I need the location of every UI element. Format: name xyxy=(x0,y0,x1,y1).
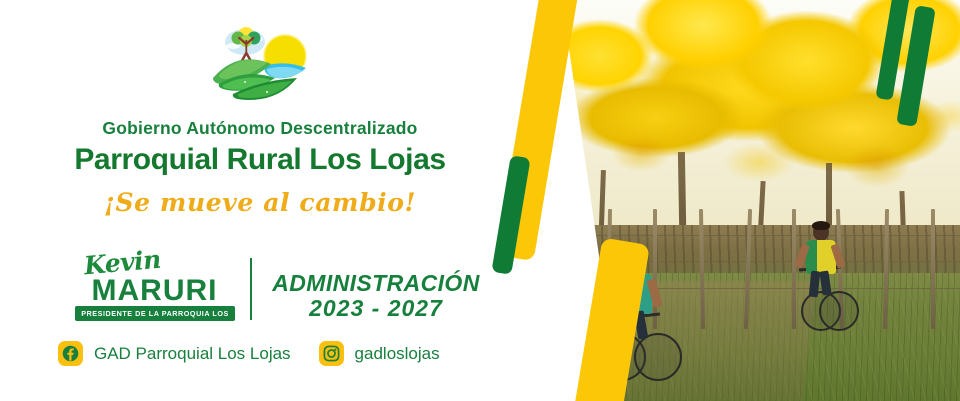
instagram-handle[interactable]: gadloslojas xyxy=(355,344,440,364)
page-title: Parroquial Rural Los Lojas xyxy=(0,143,520,177)
facebook-icon[interactable] xyxy=(58,341,83,366)
vertical-divider xyxy=(250,258,252,320)
left-content: Gobierno Autónomo Descentralizado Parroq… xyxy=(0,0,520,401)
tree-sun-leaf-logo-icon xyxy=(205,22,315,102)
cyclist-background xyxy=(775,221,885,361)
subtitle: Gobierno Autónomo Descentralizado xyxy=(0,118,520,139)
administration-block: ADMINISTRACIÓN 2023 - 2027 xyxy=(262,270,490,322)
facebook-handle[interactable]: GAD Parroquial Los Lojas xyxy=(94,344,291,364)
candidate-last-name: MARURI xyxy=(72,274,237,308)
candidate-block: Kevin MARURI PRESIDENTE DE LA PARROQUIA … xyxy=(72,250,237,328)
social-instagram[interactable]: gadloslojas xyxy=(319,341,440,366)
instagram-icon[interactable] xyxy=(319,341,344,366)
administration-years: 2023 - 2027 xyxy=(262,295,490,322)
candidate-role-badge: PRESIDENTE DE LA PARROQUIA LOS LOJAS xyxy=(75,306,235,321)
administration-label: ADMINISTRACIÓN xyxy=(262,270,490,297)
social-row: GAD Parroquial Los Lojas gadloslojas xyxy=(58,341,440,366)
social-facebook[interactable]: GAD Parroquial Los Lojas xyxy=(58,341,291,366)
banner: Gobierno Autónomo Descentralizado Parroq… xyxy=(0,0,960,401)
slogan: ¡Se mueve al cambio! xyxy=(0,188,520,217)
